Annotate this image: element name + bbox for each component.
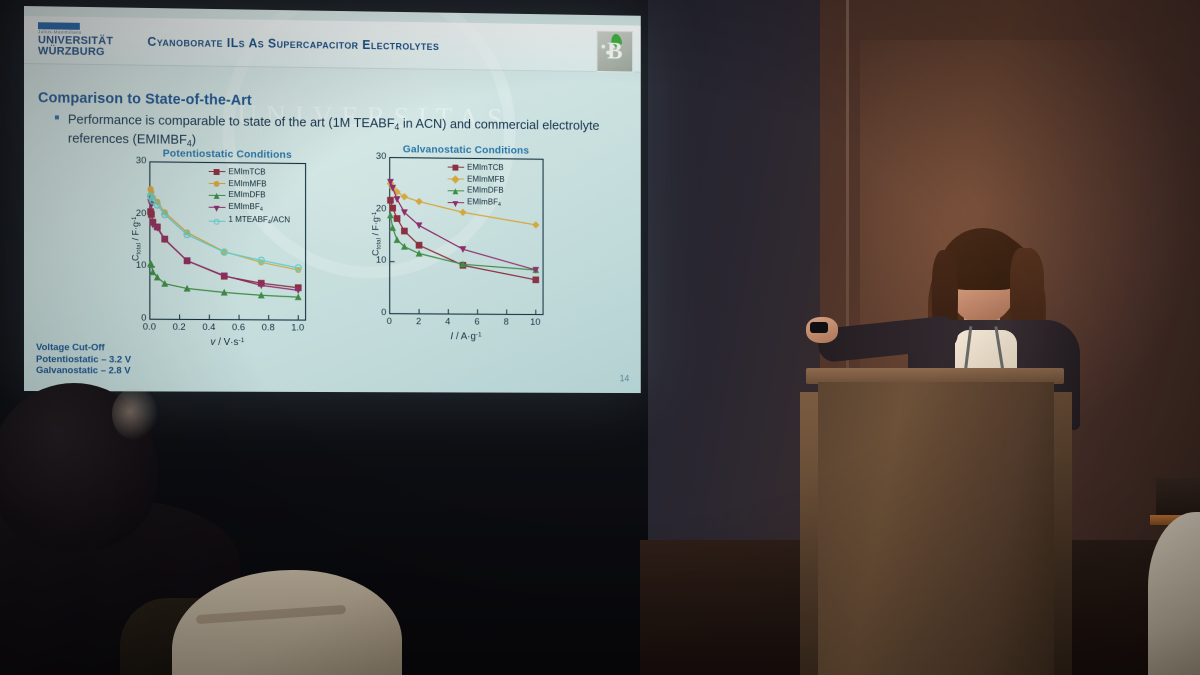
research-group-logo: B [597,31,634,73]
x-tick-label: 0 [379,316,400,327]
x-tick-label: 2 [408,316,429,327]
x-tick-label: 10 [525,317,546,328]
slide-canvas: UNIVERSITAS Julius-Maximilians UNIVERSIT… [24,6,641,393]
legend-swatch [209,207,226,208]
legend-swatch [448,202,465,203]
chart-potentiostatic: Potentiostatic Conditions 01020300.00.20… [149,147,305,319]
university-logo: Julius-Maximilians UNIVERSITÄT WÜRZBURG [38,22,130,59]
projection-screen: UNIVERSITAS Julius-Maximilians UNIVERSIT… [24,6,641,393]
chart-title: Potentiostatic Conditions [149,147,305,161]
legend-item: EMImTCB [209,166,290,178]
legend-swatch [209,171,226,172]
y-tick-label: 30 [373,151,387,162]
legend-item: EMImDFB [209,189,290,201]
legend-swatch [448,190,465,191]
x-tick-label: 0.8 [257,322,279,333]
legend-item: EMImMFB [209,178,290,190]
podium-front: Palais des congrès de Montréal [818,382,1054,675]
x-tick-label: 0.6 [228,322,250,333]
legend-label: EMImBF4 [228,201,262,215]
legend-item: EMImTCB [448,162,505,174]
legend-swatch [209,194,226,195]
chart-title: Galvanostatic Conditions [389,143,542,157]
legend-swatch [448,167,465,168]
x-tick-label: 6 [466,317,487,328]
legend-label: EMImBF4 [467,196,501,210]
bullet-text-part1: Performance is comparable to state of th… [68,112,395,131]
cutoff-line2: Potentiostatic – 3.2 V [36,354,131,366]
x-tick-label: 1.0 [287,322,309,333]
x-tick-label: 0.2 [168,322,190,333]
voltage-cutoff-note: Voltage Cut-Off Potentiostatic – 3.2 V G… [36,342,131,377]
chart-galvanostatic: Galvanostatic Conditions 01020300246810 … [389,143,542,314]
audience-member-1-hair-highlight [112,388,158,440]
chart-legend: EMImTCB EMImMFB EMImDFB EMImBF4 [448,162,505,210]
legend-label: EMImDFB [228,189,265,201]
legend-label: EMImTCB [467,162,504,174]
presenter-remote [810,322,828,333]
x-axis-label: I / A·g-1 [389,331,542,343]
slide-number: 14 [620,373,630,383]
y-axis-label: Ctotal / F·g-1 [371,189,382,278]
logo-name-line2: WÜRZBURG [38,46,130,59]
presentation-photo-scene: UNIVERSITAS Julius-Maximilians UNIVERSIT… [0,0,1200,675]
legend-item: 1 MTEABF4/ACN [209,214,290,228]
legend-swatch [448,178,465,179]
chart-legend: EMImTCB EMImMFB EMImDFB EMImBF4 1 MTEABF… [209,166,290,228]
slide-section-title: Comparison to State-of-the-Art [38,90,252,109]
legend-item: EMImBF4 [209,201,290,215]
x-axis-label: v / V·s-1 [149,337,305,349]
legend-item: EMImBF4 [448,196,505,210]
cutoff-line3: Galvanostatic – 2.8 V [36,365,131,377]
y-axis-label: Ctotal / F·g-1 [131,194,143,284]
x-tick-label: 8 [496,317,517,328]
legend-item: EMImMFB [448,173,505,185]
x-tick-label: 0.4 [198,322,220,333]
legend-swatch [209,220,226,221]
plot-area: 01020300246810 EMImTCB EMImMFB EMImDFB E… [389,157,542,314]
legend-swatch [209,183,226,184]
legend-label: EMImDFB [467,185,504,197]
bullet-text-part3: ) [192,132,196,147]
legend-label: EMImMFB [228,178,266,190]
legend-item: EMImDFB [448,185,505,197]
legend-label: 1 MTEABF4/ACN [228,214,290,228]
plot-area: 01020300.00.20.40.60.81.0 EMImTCB EMImMF… [149,161,305,319]
bullet-dot-icon [55,115,59,119]
cutoff-line1: Voltage Cut-Off [36,342,131,354]
y-tick-label: 30 [133,155,147,166]
legend-label: EMImMFB [467,173,504,185]
slide-header-title: Cyanoborate ILs as Supercapacitor Electr… [147,34,439,52]
x-tick-label: 4 [437,316,458,327]
group-logo-letter: B [607,40,622,64]
slide-header: Julius-Maximilians UNIVERSITÄT WÜRZBURG … [24,16,641,73]
legend-label: EMImTCB [228,166,265,178]
x-tick-label: 0.0 [138,322,160,333]
